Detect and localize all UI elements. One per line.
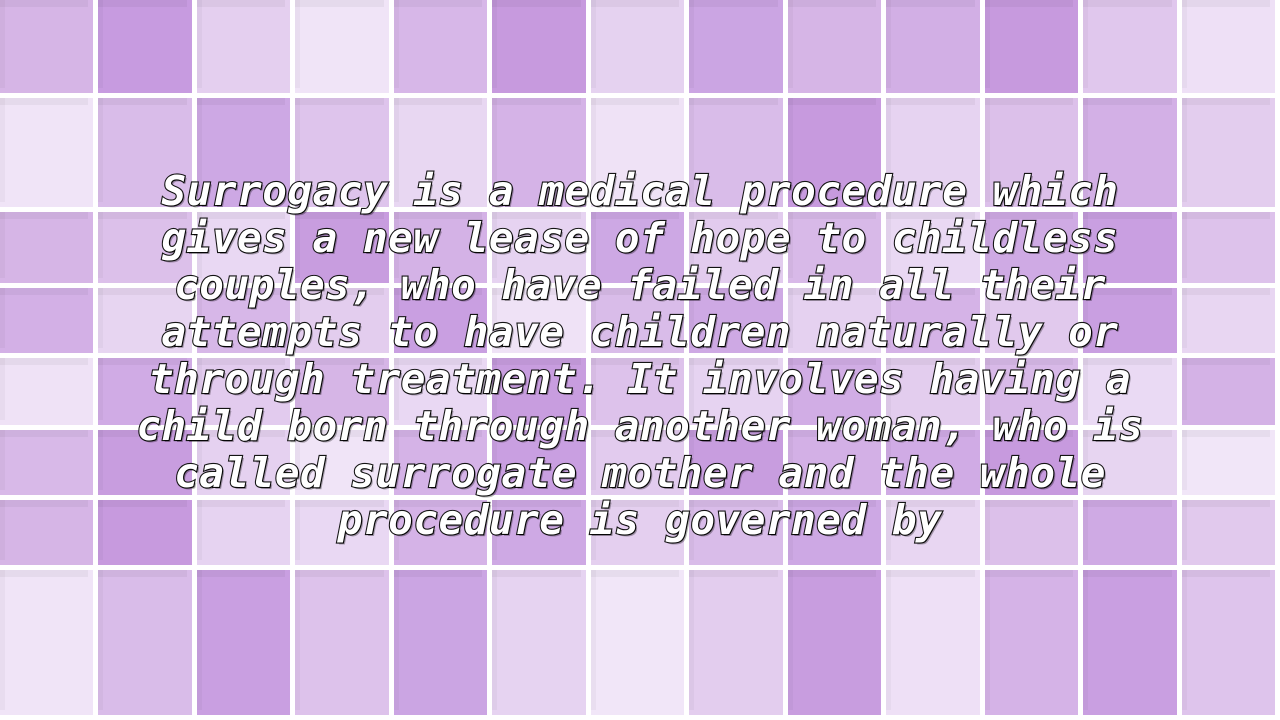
- mosaic-tile: [98, 570, 196, 720]
- mosaic-tile: [689, 212, 787, 288]
- mosaic-tile: [492, 212, 590, 288]
- mosaic-tile: [985, 212, 1083, 288]
- mosaic-tile: [985, 98, 1083, 212]
- mosaic-tile: [886, 570, 984, 720]
- mosaic-tile: [689, 430, 787, 500]
- mosaic-tile: [1083, 570, 1181, 720]
- mosaic-tile: [788, 500, 886, 570]
- mosaic-tile: [197, 288, 295, 358]
- mosaic-tile: [886, 288, 984, 358]
- mosaic-tile: [1083, 288, 1181, 358]
- mosaic-tile: [788, 212, 886, 288]
- mosaic-tile: [394, 430, 492, 500]
- mosaic-tile: [295, 0, 393, 98]
- mosaic-tile: [591, 98, 689, 212]
- mosaic-tile: [1083, 98, 1181, 212]
- mosaic-tile: [98, 212, 196, 288]
- mosaic-tile: [394, 358, 492, 430]
- mosaic-tile: [492, 98, 590, 212]
- mosaic-tile: [591, 212, 689, 288]
- mosaic-tile: [197, 430, 295, 500]
- mosaic-tile: [197, 358, 295, 430]
- mosaic-tile: [1182, 358, 1280, 430]
- mosaic-tile: [295, 500, 393, 570]
- mosaic-tile: [98, 430, 196, 500]
- mosaic-tile: [591, 570, 689, 720]
- mosaic-tile: [689, 288, 787, 358]
- mosaic-tile: [295, 98, 393, 212]
- mosaic-tile: [788, 98, 886, 212]
- mosaic-tile: [689, 500, 787, 570]
- slide-canvas: Surrogacy is a medical procedure which g…: [0, 0, 1280, 720]
- tile-mosaic-background: [0, 0, 1280, 720]
- mosaic-tile: [788, 570, 886, 720]
- mosaic-tile: [886, 358, 984, 430]
- mosaic-tile: [886, 0, 984, 98]
- mosaic-tile: [0, 430, 98, 500]
- mosaic-tile: [1083, 358, 1181, 430]
- mosaic-tile: [394, 570, 492, 720]
- mosaic-tile: [985, 0, 1083, 98]
- mosaic-tile: [394, 288, 492, 358]
- mosaic-tile: [295, 288, 393, 358]
- mosaic-tile: [1182, 430, 1280, 500]
- mosaic-tile: [1083, 0, 1181, 98]
- mosaic-tile: [0, 358, 98, 430]
- mosaic-tile: [886, 98, 984, 212]
- mosaic-tile: [1182, 500, 1280, 570]
- mosaic-tile: [591, 358, 689, 430]
- mosaic-tile: [197, 212, 295, 288]
- mosaic-tile: [985, 358, 1083, 430]
- mosaic-tile: [197, 500, 295, 570]
- mosaic-tile: [886, 212, 984, 288]
- mosaic-tile: [0, 212, 98, 288]
- mosaic-tile: [492, 500, 590, 570]
- mosaic-tile: [98, 98, 196, 212]
- mosaic-tile: [295, 570, 393, 720]
- mosaic-tile: [788, 0, 886, 98]
- mosaic-tile: [98, 358, 196, 430]
- mosaic-tile: [197, 98, 295, 212]
- mosaic-tile: [985, 288, 1083, 358]
- mosaic-tile: [788, 430, 886, 500]
- mosaic-tile: [0, 98, 98, 212]
- mosaic-tile: [394, 500, 492, 570]
- mosaic-tile: [1083, 500, 1181, 570]
- mosaic-tile: [985, 500, 1083, 570]
- mosaic-tile: [591, 288, 689, 358]
- mosaic-tile: [394, 98, 492, 212]
- mosaic-tile: [591, 430, 689, 500]
- mosaic-tile: [985, 430, 1083, 500]
- mosaic-tile: [1182, 0, 1280, 98]
- mosaic-tile: [689, 0, 787, 98]
- mosaic-tile: [886, 430, 984, 500]
- mosaic-tile: [689, 98, 787, 212]
- mosaic-tile: [492, 430, 590, 500]
- mosaic-tile: [1182, 288, 1280, 358]
- mosaic-tile: [197, 0, 295, 98]
- mosaic-tile: [295, 358, 393, 430]
- mosaic-tile: [492, 288, 590, 358]
- mosaic-tile: [295, 212, 393, 288]
- mosaic-tile: [492, 358, 590, 430]
- mosaic-tile: [1083, 430, 1181, 500]
- mosaic-tile: [0, 570, 98, 720]
- mosaic-tile: [1182, 98, 1280, 212]
- mosaic-tile: [98, 0, 196, 98]
- mosaic-tile: [591, 500, 689, 570]
- mosaic-tile: [0, 0, 98, 98]
- mosaic-tile: [1182, 212, 1280, 288]
- mosaic-tile: [98, 288, 196, 358]
- mosaic-tile: [689, 570, 787, 720]
- mosaic-tile: [1182, 570, 1280, 720]
- mosaic-tile: [1083, 212, 1181, 288]
- mosaic-tile: [886, 500, 984, 570]
- mosaic-tile: [985, 570, 1083, 720]
- mosaic-tile: [295, 430, 393, 500]
- mosaic-tile: [788, 288, 886, 358]
- mosaic-tile: [394, 0, 492, 98]
- mosaic-tile: [394, 212, 492, 288]
- mosaic-tile: [0, 288, 98, 358]
- mosaic-tile: [788, 358, 886, 430]
- mosaic-tile: [98, 500, 196, 570]
- mosaic-tile: [689, 358, 787, 430]
- mosaic-tile: [197, 570, 295, 720]
- mosaic-tile: [0, 500, 98, 570]
- mosaic-tile: [492, 570, 590, 720]
- mosaic-tile: [492, 0, 590, 98]
- mosaic-tile: [591, 0, 689, 98]
